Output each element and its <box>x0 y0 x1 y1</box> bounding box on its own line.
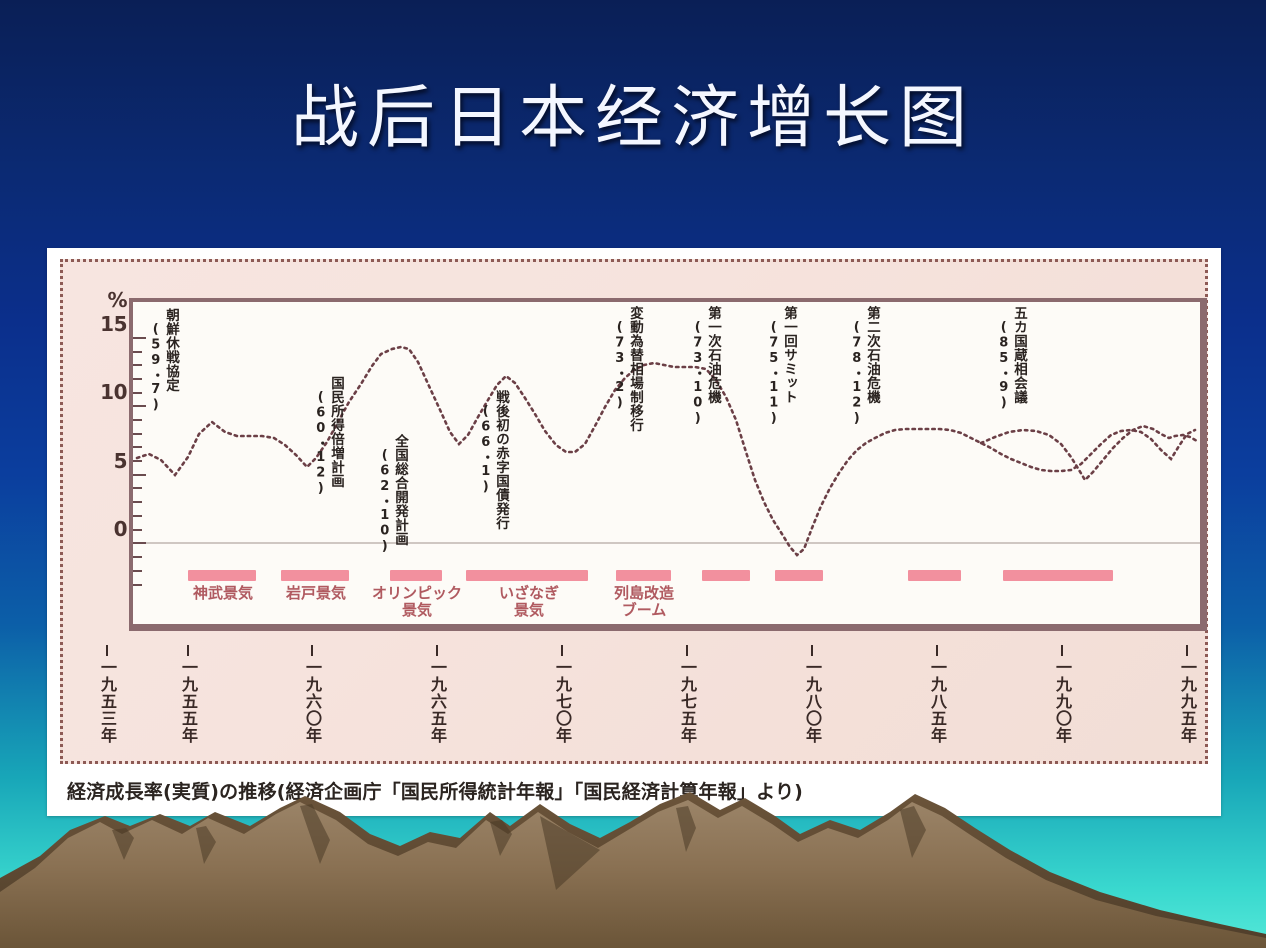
x-tick-label-1975: 一九七五年 <box>679 659 695 744</box>
boom-bar-retto-kaizo <box>616 570 671 581</box>
annotation-korean-armistice: 朝鮮休戦協定 (59・7) <box>149 308 177 413</box>
y-axis-ticks <box>133 338 146 585</box>
x-tick-label-1970: 一九七〇年 <box>554 659 570 744</box>
y-axis-unit: % <box>107 288 127 312</box>
boom-label-olympic: オリンピック 景気 <box>356 585 478 620</box>
y-tick-label-10: 10 <box>100 380 127 404</box>
plot-inner: 朝鮮休戦協定 (59・7) 国民所得倍増計画 (60・12) 全国総合開発計画 … <box>133 302 1200 624</box>
annotation-national-development-plan: 全国総合開発計画 (62・10) <box>378 434 406 555</box>
x-tick-label-1955: 一九五五年 <box>180 659 196 744</box>
x-tick-label-1985: 一九八五年 <box>929 659 945 744</box>
plot-area: 朝鮮休戦協定 (59・7) 国民所得倍増計画 (60・12) 全国総合開発計画 … <box>129 298 1207 631</box>
growth-rate-curve <box>137 347 1195 555</box>
boom-bar-8 <box>908 570 961 581</box>
y-axis: % 15 10 5 0 <box>63 290 133 610</box>
annotation-first-deficit-bond: 戦後初の赤字国債発行 (66・1) <box>479 390 507 530</box>
annotation-second-oil-crisis: 第二次石油危機 (78・12) <box>850 306 878 427</box>
boom-label-jinmu: 神武景気 <box>173 585 273 602</box>
boom-bar-izanagi <box>466 570 588 581</box>
x-tick-label-1995: 一九九五年 <box>1179 659 1195 744</box>
x-tick-label-1965: 一九六五年 <box>429 659 445 744</box>
y-tick-label-15: 15 <box>100 312 127 336</box>
boom-bar-7 <box>775 570 823 581</box>
boom-bar-iwato <box>281 570 349 581</box>
x-tick-label-1980: 一九八〇年 <box>804 659 820 744</box>
y-tick-label-5: 5 <box>114 449 127 473</box>
annotation-plaza-accord: 五カ国蔵相会議 (85・9) <box>997 306 1025 411</box>
annotation-floating-exchange-rate: 変動為替相場制移行 (73・2) <box>613 306 641 432</box>
annotation-first-oil-crisis: 第一次石油危機 (73・10) <box>691 306 719 427</box>
x-tick-label-1953: 一九五三年 <box>99 659 115 744</box>
boom-bar-olympic <box>390 570 442 581</box>
boom-label-iwato: 岩戸景気 <box>266 585 366 602</box>
y-tick-label-0: 0 <box>114 517 127 541</box>
annotation-first-summit: 第一回サミット (75・11) <box>767 306 795 427</box>
boom-bar-jinmu <box>188 570 256 581</box>
mountain-silhouette <box>0 768 1266 948</box>
scanned-chart-region: % 15 10 5 0 <box>60 259 1208 764</box>
boom-label-izanagi: いざなぎ 景気 <box>470 585 588 620</box>
x-tick-label-1960: 一九六〇年 <box>304 659 320 744</box>
boom-bar-6 <box>702 570 750 581</box>
figure-card: % 15 10 5 0 <box>47 248 1221 816</box>
annotation-income-doubling-plan: 国民所得倍増計画 (60・12) <box>314 376 342 497</box>
boom-label-retto-kaizo: 列島改造 ブーム <box>588 585 700 620</box>
boom-bar-9 <box>1003 570 1113 581</box>
x-tick-label-1990: 一九九〇年 <box>1054 659 1070 744</box>
page-title: 战后日本经济增长图 <box>0 62 1266 161</box>
